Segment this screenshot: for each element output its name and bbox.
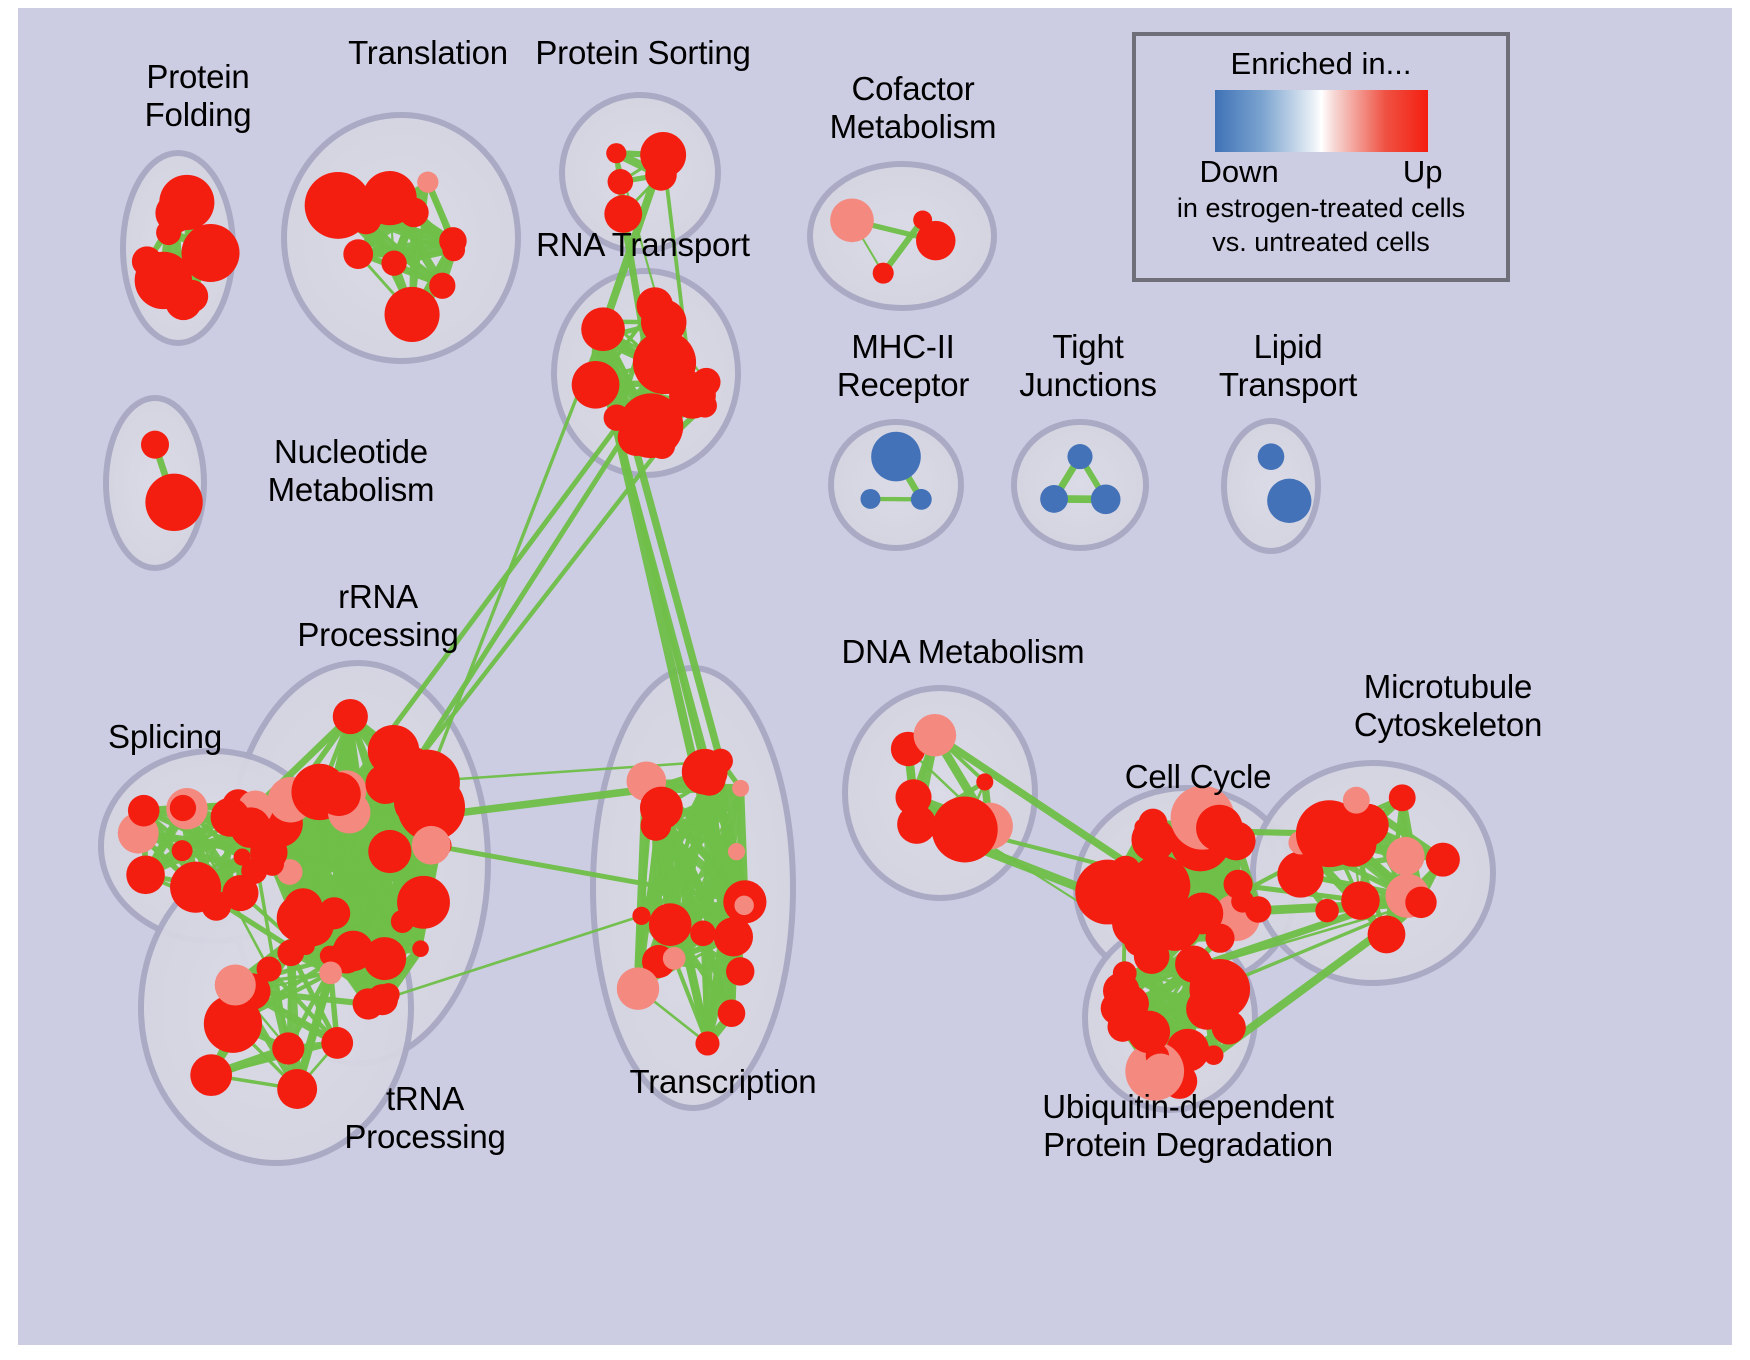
graph-node xyxy=(640,132,686,178)
cluster-label-rna-transport: RNA Transport xyxy=(488,226,798,264)
graph-node xyxy=(830,198,874,242)
cluster-label-ubiquitin-protein-degradation: Ubiquitin-dependent Protein Degradation xyxy=(978,1088,1398,1164)
graph-node xyxy=(1217,821,1256,860)
graph-node xyxy=(1258,443,1285,470)
graph-node xyxy=(1368,915,1406,953)
graph-node xyxy=(408,803,432,827)
legend-low-label: Down xyxy=(1200,154,1279,190)
graph-node xyxy=(718,999,746,1027)
graph-node xyxy=(932,797,998,863)
graph-node xyxy=(397,876,450,929)
graph-node xyxy=(1343,787,1370,814)
graph-node xyxy=(914,714,957,757)
legend-box: Enriched in... Down Up in estrogen-treat… xyxy=(1132,32,1510,282)
graph-node xyxy=(182,224,240,282)
cluster-label-cell-cycle: Cell Cycle xyxy=(1083,758,1313,796)
graph-node xyxy=(1386,837,1424,875)
graph-node xyxy=(250,834,287,871)
graph-node xyxy=(663,947,686,970)
graph-node xyxy=(333,699,368,734)
graph-node xyxy=(581,307,625,351)
graph-node xyxy=(277,939,304,966)
graph-node xyxy=(690,920,716,946)
graph-node xyxy=(732,780,749,797)
cluster-label-protein-folding: Protein Folding xyxy=(93,58,303,134)
graph-node xyxy=(317,772,361,816)
graph-node xyxy=(257,957,282,982)
legend-title: Enriched in... xyxy=(1136,46,1506,82)
cluster-label-tight-junctions: Tight Junctions xyxy=(973,328,1203,404)
graph-node xyxy=(1143,1054,1179,1090)
graph-node xyxy=(1113,961,1137,985)
graph-node xyxy=(385,287,440,342)
graph-node xyxy=(873,263,894,284)
cluster-label-dna-metabolism: DNA Metabolism xyxy=(803,633,1123,671)
graph-node xyxy=(368,830,411,873)
graph-node xyxy=(132,246,162,276)
figure-stage: Protein FoldingTranslationProtein Sortin… xyxy=(0,0,1750,1360)
graph-node xyxy=(649,903,692,946)
graph-node xyxy=(353,988,384,1019)
graph-node xyxy=(1231,890,1254,913)
graph-node xyxy=(319,962,342,985)
cluster-label-trna-processing: tRNA Processing xyxy=(310,1080,540,1156)
graph-node xyxy=(215,964,256,1005)
graph-node xyxy=(399,198,429,228)
graph-node xyxy=(1112,985,1149,1022)
graph-node xyxy=(726,957,754,985)
legend-high-label: Up xyxy=(1403,154,1443,190)
graph-node xyxy=(1389,784,1416,811)
graph-node xyxy=(412,940,429,957)
graph-node xyxy=(128,795,160,827)
graph-node xyxy=(190,1054,232,1096)
graph-node xyxy=(895,779,931,815)
graph-node xyxy=(1315,899,1339,923)
graph-node xyxy=(1267,479,1311,523)
graph-node xyxy=(608,169,634,195)
graph-node xyxy=(170,862,221,913)
graph-node xyxy=(1091,485,1121,515)
graph-node xyxy=(669,372,716,419)
graph-node xyxy=(305,172,372,239)
graph-node xyxy=(1111,856,1141,886)
graph-node xyxy=(1040,485,1068,513)
graph-node xyxy=(417,172,438,193)
graph-node xyxy=(283,888,322,927)
graph-node xyxy=(172,840,193,861)
graph-node xyxy=(617,967,659,1009)
cluster-label-splicing: Splicing xyxy=(70,718,260,756)
graph-node xyxy=(1134,819,1151,836)
network-canvas: Protein FoldingTranslationProtein Sortin… xyxy=(18,8,1732,1345)
cluster-label-rrna-processing: rRNA Processing xyxy=(258,578,498,654)
legend-gradient-bar xyxy=(1215,90,1428,152)
graph-node xyxy=(272,1032,304,1064)
cluster-label-cofactor-metabolism: Cofactor Metabolism xyxy=(778,70,1048,146)
cluster-label-lipid-transport: Lipid Transport xyxy=(1173,328,1403,404)
graph-node xyxy=(1405,887,1436,918)
cluster-hull-tight-junctions xyxy=(1014,422,1146,548)
graph-node xyxy=(860,489,880,509)
graph-node xyxy=(170,795,196,821)
graph-node xyxy=(734,896,753,915)
cluster-label-protein-sorting: Protein Sorting xyxy=(488,34,798,72)
graph-node xyxy=(640,787,683,830)
graph-node xyxy=(594,368,611,385)
graph-node xyxy=(159,175,214,230)
graph-node xyxy=(343,239,373,269)
cluster-label-transcription: Transcription xyxy=(578,1063,868,1101)
graph-node xyxy=(126,856,165,895)
graph-node xyxy=(976,773,993,790)
graph-node xyxy=(321,1027,353,1059)
graph-node xyxy=(429,273,455,299)
graph-node xyxy=(728,843,745,860)
graph-node xyxy=(1341,881,1380,920)
graph-node xyxy=(604,405,630,431)
graph-node xyxy=(1186,988,1228,1030)
graph-node xyxy=(572,361,620,409)
legend-caption-line2: vs. untreated cells xyxy=(1136,226,1506,258)
graph-node xyxy=(141,431,169,459)
cluster-label-microtubule-cytoskeleton: Microtubule Cytoskeleton xyxy=(1298,668,1598,744)
graph-node xyxy=(1134,938,1170,974)
graph-node xyxy=(442,239,465,262)
graph-node xyxy=(1067,444,1092,469)
graph-node xyxy=(632,907,650,925)
graph-node xyxy=(412,826,451,865)
graph-node xyxy=(913,210,932,229)
graph-node xyxy=(871,432,921,482)
graph-node xyxy=(911,489,932,510)
graph-node xyxy=(1426,843,1460,877)
cluster-label-nucleotide-metabolism: Nucleotide Metabolism xyxy=(206,433,496,509)
graph-node xyxy=(606,143,626,163)
graph-node xyxy=(603,313,620,330)
graph-node xyxy=(708,749,733,774)
legend-caption-line1: in estrogen-treated cells xyxy=(1136,192,1506,224)
graph-node xyxy=(695,1031,719,1055)
graph-node xyxy=(636,287,673,324)
graph-node xyxy=(381,251,406,276)
graph-node xyxy=(145,474,202,531)
